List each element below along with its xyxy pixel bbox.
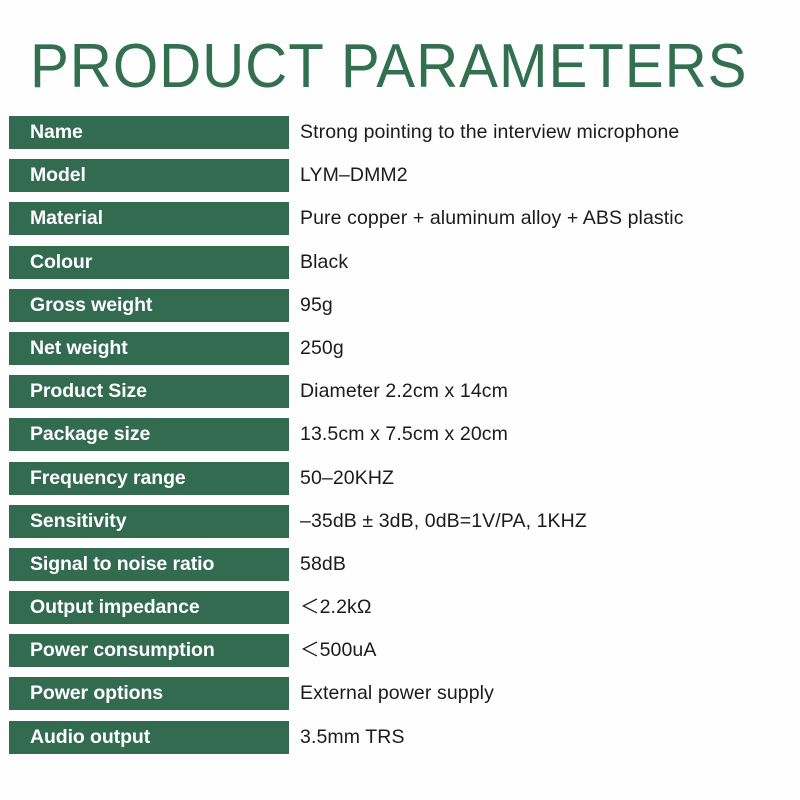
table-row: Gross weight95g (0, 286, 800, 329)
spec-value: ＜2.2kΩ (300, 591, 372, 624)
spec-value: Pure copper + aluminum alloy + ABS plast… (300, 202, 684, 235)
spec-value: 50–20KHZ (300, 462, 394, 495)
spec-value: Strong pointing to the interview microph… (300, 116, 679, 149)
spec-value: –35dB ± 3dB, 0dB=1V/PA, 1KHZ (300, 505, 587, 538)
table-row: Product SizeDiameter 2.2cm x 14cm (0, 372, 800, 415)
table-row: Power consumption＜500uA (0, 631, 800, 674)
spec-value: 3.5mm TRS (300, 721, 405, 754)
spec-label: Signal to noise ratio (9, 548, 289, 581)
spec-value: 58dB (300, 548, 346, 581)
spec-label: Net weight (9, 332, 289, 365)
spec-label: Audio output (9, 721, 289, 754)
spec-label: Frequency range (9, 462, 289, 495)
table-row: MaterialPure copper + aluminum alloy + A… (0, 199, 800, 242)
spec-table: NameStrong pointing to the interview mic… (0, 113, 800, 761)
spec-label: Sensitivity (9, 505, 289, 538)
page-title: PRODUCT PARAMETERS (30, 36, 730, 98)
spec-value: 95g (300, 289, 333, 322)
table-row: ModelLYM–DMM2 (0, 156, 800, 199)
spec-value: Black (300, 246, 348, 279)
spec-label: Colour (9, 246, 289, 279)
spec-value: 250g (300, 332, 344, 365)
table-row: Frequency range50–20KHZ (0, 459, 800, 502)
spec-label: Package size (9, 418, 289, 451)
spec-value: ＜500uA (300, 634, 377, 667)
table-row: Output impedance＜2.2kΩ (0, 588, 800, 631)
table-row: Sensitivity–35dB ± 3dB, 0dB=1V/PA, 1KHZ (0, 502, 800, 545)
table-row: Power optionsExternal power supply (0, 674, 800, 717)
spec-label: Model (9, 159, 289, 192)
spec-value: 13.5cm x 7.5cm x 20cm (300, 418, 508, 451)
spec-value: External power supply (300, 677, 494, 710)
spec-value: LYM–DMM2 (300, 159, 408, 192)
spec-label: Output impedance (9, 591, 289, 624)
table-row: NameStrong pointing to the interview mic… (0, 113, 800, 156)
spec-label: Material (9, 202, 289, 235)
product-parameters-page: PRODUCT PARAMETERS NameStrong pointing t… (0, 0, 800, 800)
table-row: Audio output3.5mm TRS (0, 718, 800, 761)
spec-label: Power consumption (9, 634, 289, 667)
table-row: Net weight250g (0, 329, 800, 372)
spec-label: Product Size (9, 375, 289, 408)
spec-label: Name (9, 116, 289, 149)
table-row: ColourBlack (0, 243, 800, 286)
table-row: Package size13.5cm x 7.5cm x 20cm (0, 415, 800, 458)
table-row: Signal to noise ratio58dB (0, 545, 800, 588)
spec-label: Power options (9, 677, 289, 710)
spec-label: Gross weight (9, 289, 289, 322)
spec-value: Diameter 2.2cm x 14cm (300, 375, 508, 408)
